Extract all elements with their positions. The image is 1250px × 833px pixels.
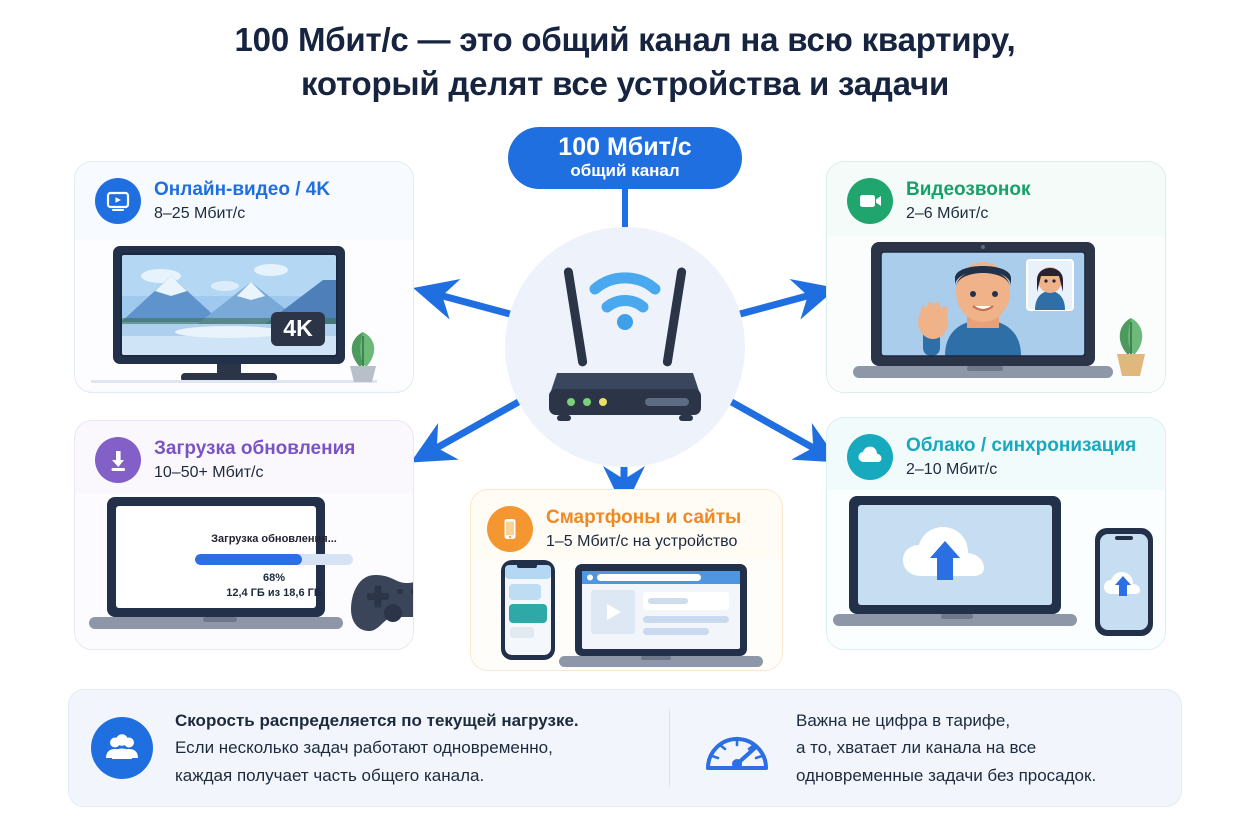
laptop-video-call-illustration xyxy=(827,236,1166,392)
footer-right-block: Важна не цифра в тарифе, а то, хватает л… xyxy=(670,707,1096,790)
play-video-icon xyxy=(95,178,141,224)
tv-landscape-illustration: 4K xyxy=(75,240,414,390)
card-cloud-sync-header: Облако / синхронизация 2–10 Мбит/с xyxy=(827,418,1165,480)
card-online-video-header: Онлайн-видео / 4K 8–25 Мбит/с xyxy=(75,162,413,224)
footer-right-line-3: одновременные задачи без просадок. xyxy=(796,762,1096,790)
card-online-video[interactable]: Онлайн-видео / 4K 8–25 Мбит/с xyxy=(74,161,414,393)
download-progress-label: Загрузка обновления... xyxy=(195,533,353,545)
card-smartphones-sites-title: Смартфоны и сайты xyxy=(546,507,741,529)
footer-right-text: Важна не цифра в тарифе, а то, хватает л… xyxy=(796,707,1096,790)
card-video-call-title: Видеозвонок xyxy=(906,179,1030,201)
tv-4k-badge-label: 4K xyxy=(283,315,313,341)
download-progress-widget: Загрузка обновления... 68% 12,4 ГБ из 18… xyxy=(195,533,353,599)
phone-chat-laptop-browser-illustration xyxy=(471,558,783,671)
download-progress-fill xyxy=(195,554,302,565)
card-video-call[interactable]: Видеозвонок 2–6 Мбит/с xyxy=(826,161,1166,393)
footer-left-line-2: Если несколько задач работают одновремен… xyxy=(175,734,579,762)
card-smartphones-sites[interactable]: Смартфоны и сайты 1–5 Мбит/с на устройст… xyxy=(470,489,783,671)
card-update-download-speed: 10–50+ Мбит/с xyxy=(154,463,355,482)
card-update-download-title: Загрузка обновления xyxy=(154,438,355,460)
download-progress-percent: 68% xyxy=(195,572,353,584)
card-smartphones-sites-speed: 1–5 Мбит/с на устройство xyxy=(546,532,741,551)
card-update-download-header: Загрузка обновления 10–50+ Мбит/с xyxy=(75,421,413,483)
wifi-router-icon xyxy=(505,227,745,467)
download-progress-size: 12,4 ГБ из 18,6 ГБ xyxy=(195,587,353,599)
smartphone-icon xyxy=(487,506,533,552)
laptop-phone-cloud-upload-illustration xyxy=(827,490,1166,650)
footer-left-text: Скорость распределяется по текущей нагру… xyxy=(175,707,579,790)
hub-speed-value: 100 Мбит/с xyxy=(558,134,691,160)
download-progress-track xyxy=(195,554,353,565)
footer-left-line-3: каждая получает часть общего канала. xyxy=(175,762,579,790)
cloud-icon xyxy=(847,434,893,480)
footer-panel: Скорость распределяется по текущей нагру… xyxy=(68,689,1182,807)
footer-right-line-2: а то, хватает ли канала на все xyxy=(796,734,1096,762)
footer-left-line-1: Скорость распределяется по текущей нагру… xyxy=(175,707,579,735)
download-arrow-icon xyxy=(95,437,141,483)
video-camera-icon xyxy=(847,178,893,224)
footer-right-line-1: Важна не цифра в тарифе, xyxy=(796,707,1096,735)
card-update-download[interactable]: Загрузка обновления 10–50+ Мбит/с Загруз… xyxy=(74,420,414,650)
gamepad-illustration xyxy=(349,559,414,645)
card-smartphones-sites-header: Смартфоны и сайты 1–5 Мбит/с на устройст… xyxy=(471,490,782,552)
card-cloud-sync-speed: 2–10 Мбит/с xyxy=(906,460,1136,479)
footer-left-block: Скорость распределяется по текущей нагру… xyxy=(69,707,669,790)
card-cloud-sync-title: Облако / синхронизация xyxy=(906,435,1136,457)
people-group-icon xyxy=(91,717,153,779)
card-video-call-speed: 2–6 Мбит/с xyxy=(906,204,1030,223)
card-cloud-sync[interactable]: Облако / синхронизация 2–10 Мбит/с xyxy=(826,417,1166,650)
hub-connector-stem xyxy=(622,189,628,231)
card-online-video-title: Онлайн-видео / 4K xyxy=(154,179,330,201)
speedometer-icon xyxy=(700,720,774,776)
card-video-call-header: Видеозвонок 2–6 Мбит/с xyxy=(827,162,1165,224)
hub-speed-badge: 100 Мбит/с общий канал xyxy=(508,127,742,189)
hub-speed-caption: общий канал xyxy=(570,160,679,182)
infographic-canvas: 100 Мбит/с — это общий канал на всю квар… xyxy=(0,0,1250,833)
card-online-video-speed: 8–25 Мбит/с xyxy=(154,204,330,223)
